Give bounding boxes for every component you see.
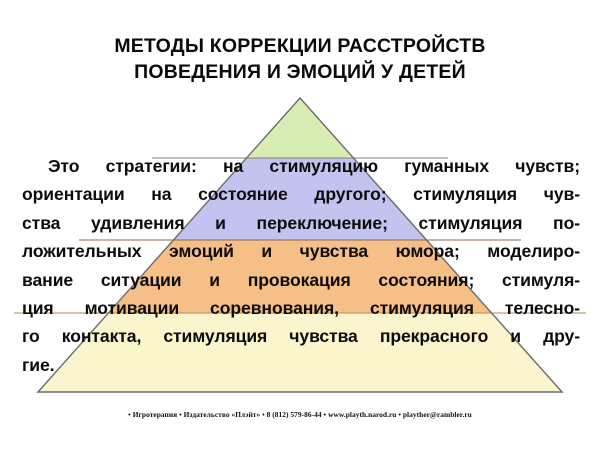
body-line-6: ция мотивации соревнования, стимуляция т…: [22, 294, 580, 322]
pyramid-band-apex: [0, 90, 600, 158]
body-line-4: ложительных эмоций и чувства юмора; моде…: [22, 237, 580, 265]
slide-canvas: МЕТОДЫ КОРРЕКЦИИ РАССТРОЙСТВ ПОВЕДЕНИЯ И…: [0, 0, 600, 463]
body-line-5: вание ситуации и провокация состояния; с…: [22, 266, 580, 294]
body-line-8: гие.: [22, 351, 580, 379]
body-line-2: ориентации на состояние другого; стимуля…: [22, 180, 580, 208]
body-paragraph: Это стратегии: на стимуляцию гуманных чу…: [22, 152, 580, 379]
body-line-7: го контакта, стимуляция чувства прекрасн…: [22, 322, 580, 350]
body-line-1: Это стратегии: на стимуляцию гуманных чу…: [22, 152, 580, 180]
footer-imprint: • Игротерапия • Издательство «Плэйт» • 8…: [0, 409, 600, 420]
body-line-3: ства удивления и переключение; стимуляци…: [22, 209, 580, 237]
